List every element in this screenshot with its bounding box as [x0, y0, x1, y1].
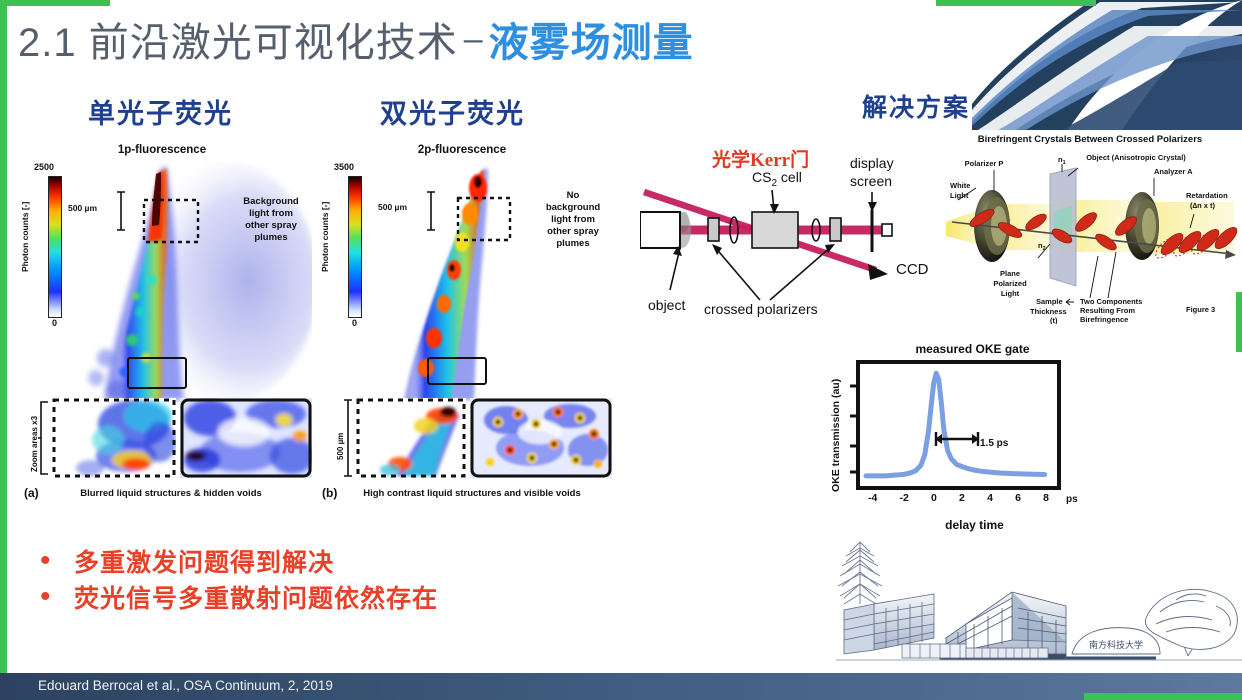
kerr-label-object: object: [648, 297, 685, 313]
oke-chart-title: measured OKE gate: [840, 342, 1105, 356]
colorbar-b-max: 3500: [334, 162, 354, 172]
colorbar-a-max: 2500: [34, 162, 54, 172]
birefringence-diagram: Birefringent Crystals Between Crossed Po…: [940, 126, 1240, 324]
footer-bar: Edouard Berrocal et al., OSA Continuum, …: [0, 673, 1242, 700]
bullet-item: • 多重激发问题得到解决: [40, 548, 438, 578]
biref-label-figure-no: Figure 3: [1186, 305, 1215, 314]
biref-label-sample-1: Sample: [1036, 297, 1063, 306]
biref-label-plane-1: Plane: [1000, 269, 1020, 278]
biref-label-twocomp-3: Birefringence: [1080, 315, 1128, 324]
colorbar-a-min: 0: [52, 318, 57, 328]
heading-one-photon: 单光子荧光: [88, 92, 233, 131]
biref-label-retardation-1: Retardation: [1186, 191, 1228, 200]
colorbar-b-label: Photon counts [-]: [320, 202, 330, 272]
zoom-panel-b-left: [356, 398, 466, 478]
scale-bar-b: [424, 190, 438, 232]
heading-solution: 解决方案: [862, 88, 970, 124]
figure-b-caption: High contrast liquid structures and visi…: [332, 488, 612, 499]
biref-title: Birefringent Crystals Between Crossed Po…: [978, 134, 1202, 145]
zoom-bracket-a: [38, 400, 50, 476]
colorbar-a-label: Photon counts [-]: [20, 202, 30, 272]
oke-chart-plot: [856, 360, 1061, 490]
bullet-text: 多重激发问题得到解决: [74, 548, 334, 578]
oke-chart-annotation: 1.5 ps: [980, 438, 1008, 449]
scale-label-a: 500 µm: [68, 203, 97, 213]
oke-chart-xunit: ps: [1066, 494, 1078, 505]
biref-label-white-1: White: [950, 181, 970, 190]
figure-b-title: 2p-fluorescence: [312, 144, 612, 156]
biref-label-plane-2: Polarized: [993, 279, 1027, 288]
campus-university-name: 南方科技大学: [1089, 639, 1143, 650]
biref-label-object: Object (Anisotropic Crystal): [1086, 153, 1186, 162]
slide-title: 2.1 前沿激光可视化技术 – 液雾场测量: [18, 8, 694, 70]
figure-a-title: 1p-fluorescence: [12, 144, 312, 156]
green-accent-right-edge: [1236, 292, 1242, 352]
green-accent-top-right: [936, 0, 1096, 6]
biref-label-twocomp-1: Two Components: [1080, 297, 1142, 306]
colorbar-b-min: 0: [352, 318, 357, 328]
oke-chart-fwhm-marker: [932, 430, 982, 448]
biref-label-white-2: Light: [950, 191, 969, 200]
biref-label-polarizer: Polarizer P: [965, 159, 1004, 168]
bullet-marker: •: [40, 584, 74, 610]
oke-chart-xticks: -4 -2 0 2 4 6 8: [856, 492, 1061, 504]
biref-label-sample-2: Thickness: [1030, 307, 1067, 316]
figure-1p-fluorescence: 1p-fluorescence Photon counts [-] 2500 0: [12, 140, 312, 515]
scale-bar-a: [114, 190, 128, 232]
campus-illustration: 南方科技大学: [816, 532, 1242, 672]
kerr-label-crossed-polarizers: crossed polarizers: [704, 301, 818, 317]
biref-label-twocomp-2: Resulting From: [1080, 306, 1135, 315]
kerr-gate-heading: 光学Kerr门: [712, 145, 809, 172]
figure-b-tag: (b): [322, 486, 337, 500]
bullet-item: • 荧光信号多重散射问题依然存在: [40, 584, 438, 614]
note-b-no-background-light: No background light from other spray plu…: [534, 190, 612, 249]
kerr-label-ccd: CCD: [896, 261, 929, 278]
bullet-marker: •: [40, 548, 74, 574]
green-accent-left: [0, 0, 7, 673]
figure-a-caption: Blurred liquid structures & hidden voids: [36, 488, 306, 499]
slide-title-accent: 液雾场测量: [489, 10, 694, 68]
slide-canvas: 2.1 前沿激光可视化技术 – 液雾场测量 单光子荧光 双光子荧光 解决方案 1…: [0, 0, 1242, 700]
biref-label-sample-3: (t): [1050, 316, 1058, 324]
oke-chart-ylabel: OKE transmission (au): [830, 379, 842, 492]
colorbar-b-gradient: [348, 176, 362, 318]
scale-bar-b-zoom: [342, 398, 354, 478]
kerr-label-screen: screen: [850, 173, 892, 189]
slide-title-main: 2.1 前沿激光可视化技术: [18, 10, 458, 68]
colorbar-a-gradient: [48, 176, 62, 318]
bullet-text: 荧光信号多重散射问题依然存在: [74, 584, 438, 614]
bullet-list: • 多重激发问题得到解决 • 荧光信号多重散射问题依然存在: [40, 548, 438, 620]
figure-2p-fluorescence: 2p-fluorescence Photon counts [-] 3500 0: [312, 140, 612, 515]
slide-title-dash: –: [458, 20, 489, 59]
footer-citation: Edouard Berrocal et al., OSA Continuum, …: [38, 678, 333, 693]
biref-label-plane-3: Light: [1001, 289, 1020, 298]
oke-chart-xlabel: delay time: [842, 518, 1107, 532]
oke-gate-chart: measured OKE gate OKE transmission (au) …: [828, 342, 1093, 532]
biref-label-analyzer: Analyzer A: [1154, 167, 1193, 176]
green-accent-top-left: [0, 0, 110, 6]
scale-label-b: 500 µm: [378, 202, 407, 212]
zoom-panel-b-right: [470, 398, 612, 478]
heading-two-photon: 双光子荧光: [380, 92, 525, 131]
corner-decoration-graphic: [972, 0, 1242, 130]
green-accent-bottom-right: [1084, 693, 1242, 700]
zoom-panel-a-right: [180, 398, 312, 478]
zoom-panel-a-left: [52, 398, 176, 478]
kerr-label-display: display: [850, 155, 894, 171]
biref-label-retardation-2: (∆n x t): [1190, 201, 1216, 210]
oke-chart-yticks: [848, 360, 860, 490]
figure-a-tag: (a): [24, 486, 39, 500]
note-a-background-light: Background light from other spray plumes: [230, 196, 312, 244]
